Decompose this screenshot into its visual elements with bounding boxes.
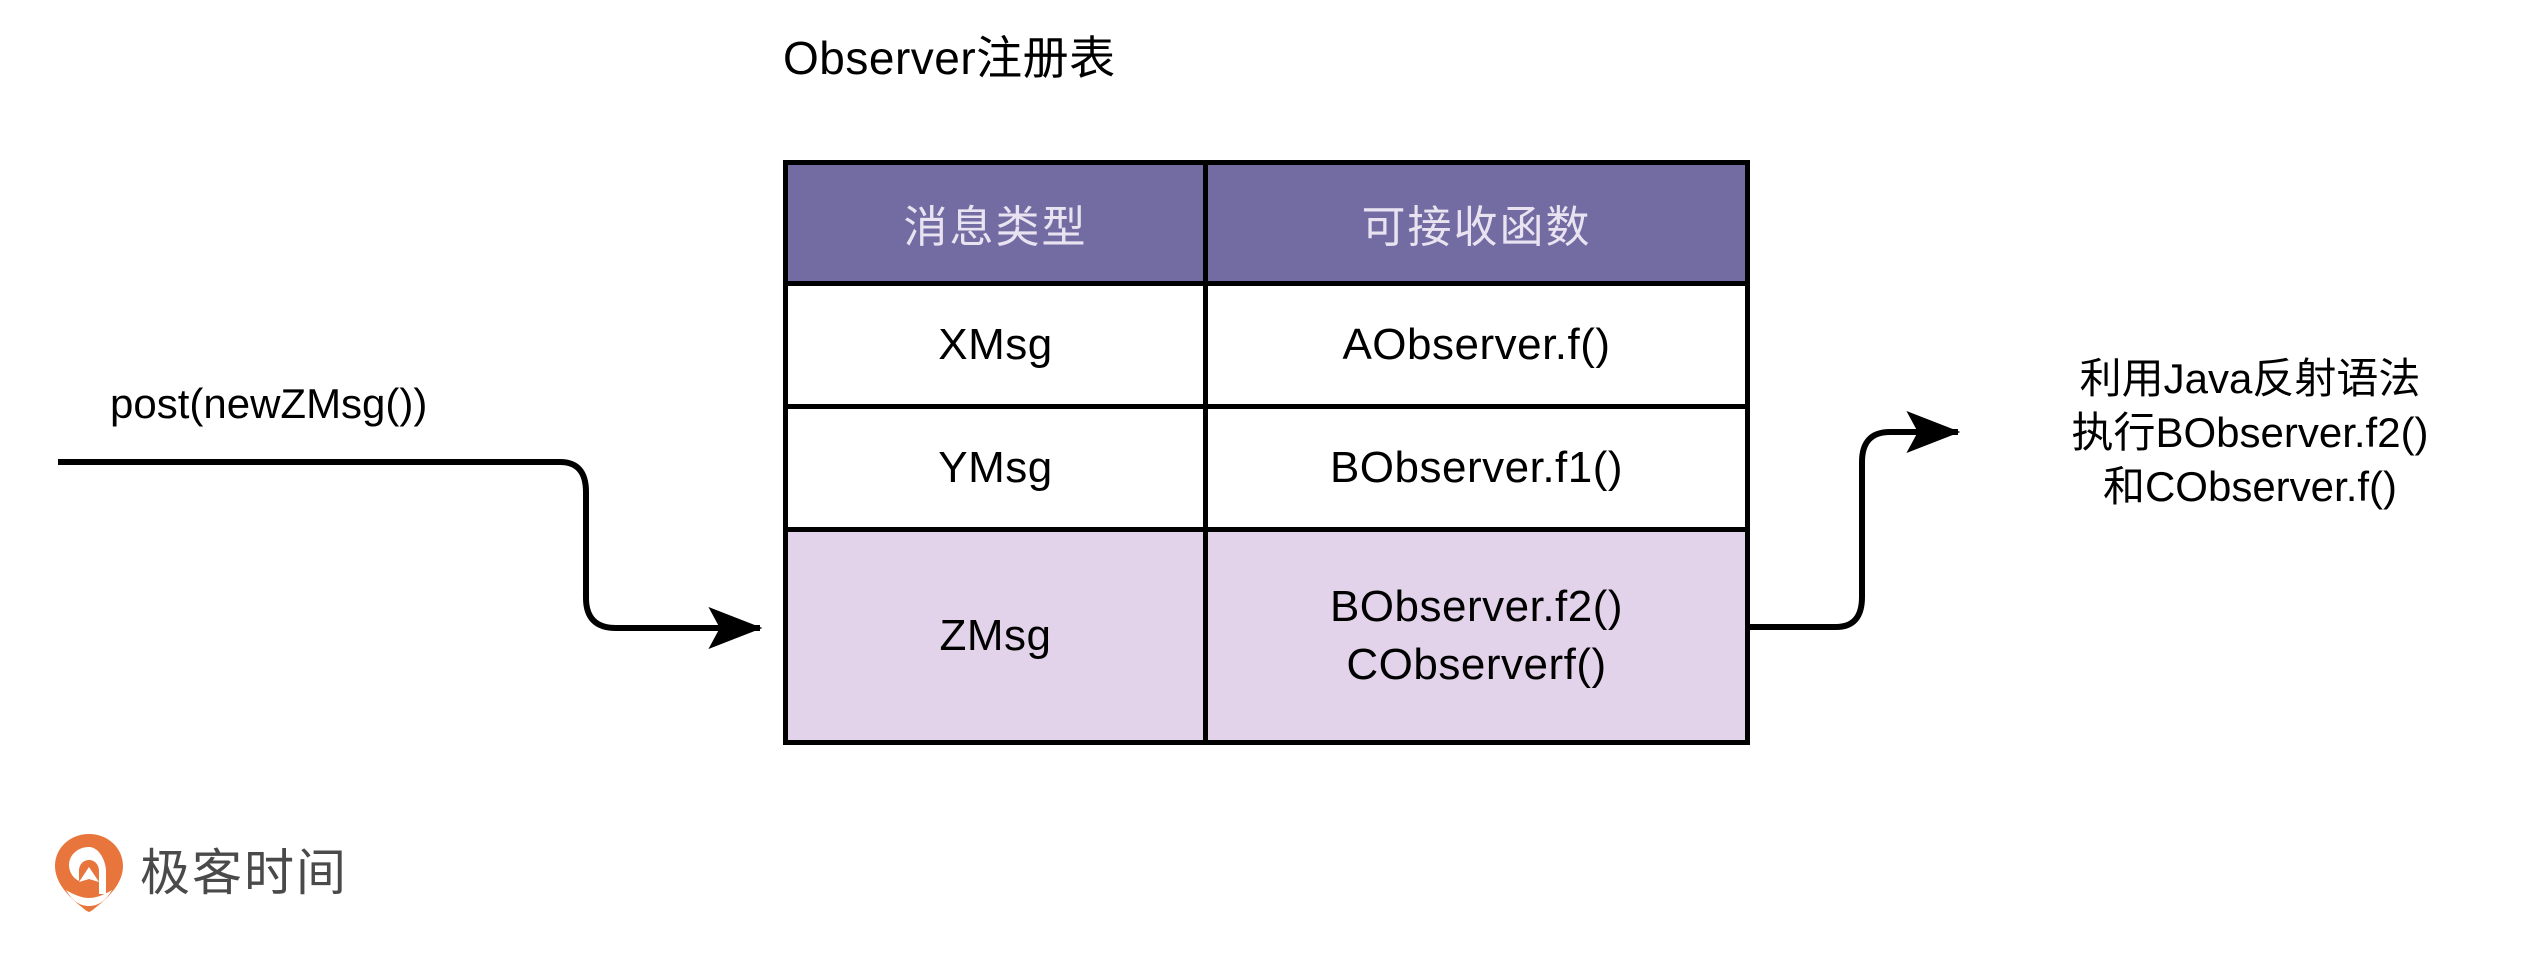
function-entry: AObserver.f() [1208,316,1745,374]
table-header-row: 消息类型 可接收函数 [786,163,1748,284]
diagram-canvas: Observer注册表 post(newZMsg()) 消息类型 可接收函数 X… [0,0,2528,953]
cell-message-type: YMsg [786,407,1206,530]
page-title: Observer注册表 [783,30,1116,86]
column-header-receiver-function: 可接收函数 [1206,163,1748,284]
table-row-highlighted: ZMsg BObserver.f2() CObserverf() [786,530,1748,743]
table-row: YMsg BObserver.f1() [786,407,1748,530]
geekbang-pin-icon [52,832,126,914]
cell-message-type: ZMsg [786,530,1206,743]
table-row: XMsg AObserver.f() [786,284,1748,407]
zmsg-to-reflection-arrow [1745,432,1958,627]
cell-receiver-function: AObserver.f() [1206,284,1748,407]
cell-receiver-function: BObserver.f2() CObserverf() [1206,530,1748,743]
column-header-message-type: 消息类型 [786,163,1206,284]
observer-registry-table: 消息类型 可接收函数 XMsg AObserver.f() YMsg BObse… [783,160,1750,745]
function-entry: CObserverf() [1208,636,1745,694]
note-line-2: 执行BObserver.f2() [2000,406,2500,460]
input-call-label: post(newZMsg()) [110,378,427,430]
reflection-note: 利用Java反射语法 执行BObserver.f2() 和CObserver.f… [2000,352,2500,514]
cell-receiver-function: BObserver.f1() [1206,407,1748,530]
note-line-3: 和CObserver.f() [2000,460,2500,514]
note-line-1: 利用Java反射语法 [2000,352,2500,406]
function-entry: BObserver.f1() [1208,439,1745,497]
brand-logo: 极客时间 [52,832,348,914]
brand-wordmark: 极客时间 [140,844,348,902]
post-to-zmsg-arrow [58,462,760,628]
function-entry: BObserver.f2() [1208,578,1745,636]
cell-message-type: XMsg [786,284,1206,407]
